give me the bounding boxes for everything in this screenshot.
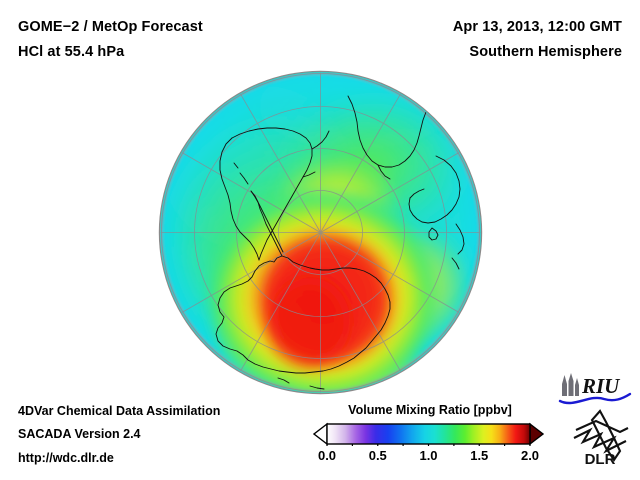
timestamp-label: Apr 13, 2013, 12:00 GMT xyxy=(453,19,622,35)
colorbar-tick-labels: 0.0 0.5 1.0 1.5 2.0 xyxy=(313,448,544,468)
colorbar xyxy=(313,422,544,446)
hemisphere-label: Southern Hemisphere xyxy=(469,44,622,60)
map-disc xyxy=(160,72,481,393)
source-url[interactable]: http://wdc.dlr.de xyxy=(18,451,114,465)
riu-logo: RIU xyxy=(556,372,634,408)
riu-wordmark: RIU xyxy=(581,374,621,398)
colorbar-right-cap xyxy=(530,424,543,444)
map-globe xyxy=(160,72,481,393)
colorbar-tick-3: 1.5 xyxy=(470,448,488,463)
riu-tower-icon xyxy=(562,373,579,396)
version-label: SACADA Version 2.4 xyxy=(18,427,141,441)
dlr-wordmark: DLR xyxy=(585,451,616,466)
map-svg xyxy=(160,72,481,393)
title-species-level: HCl at 55.4 hPa xyxy=(18,44,124,60)
colorbar-tick-1: 0.5 xyxy=(369,448,387,463)
colorbar-left-cap xyxy=(314,424,327,444)
title-instrument: GOME−2 / MetOp Forecast xyxy=(18,19,203,35)
colorbar-gradient xyxy=(327,424,530,444)
colorbar-tick-4: 2.0 xyxy=(521,448,539,463)
colorbar-svg xyxy=(313,422,544,446)
colorbar-tick-2: 1.0 xyxy=(419,448,437,463)
colorbar-title: Volume Mixing Ratio [ppbv] xyxy=(310,403,550,417)
colorbar-tick-0: 0.0 xyxy=(318,448,336,463)
method-label: 4DVar Chemical Data Assimilation xyxy=(18,404,220,418)
dlr-logo: DLR xyxy=(570,408,634,466)
